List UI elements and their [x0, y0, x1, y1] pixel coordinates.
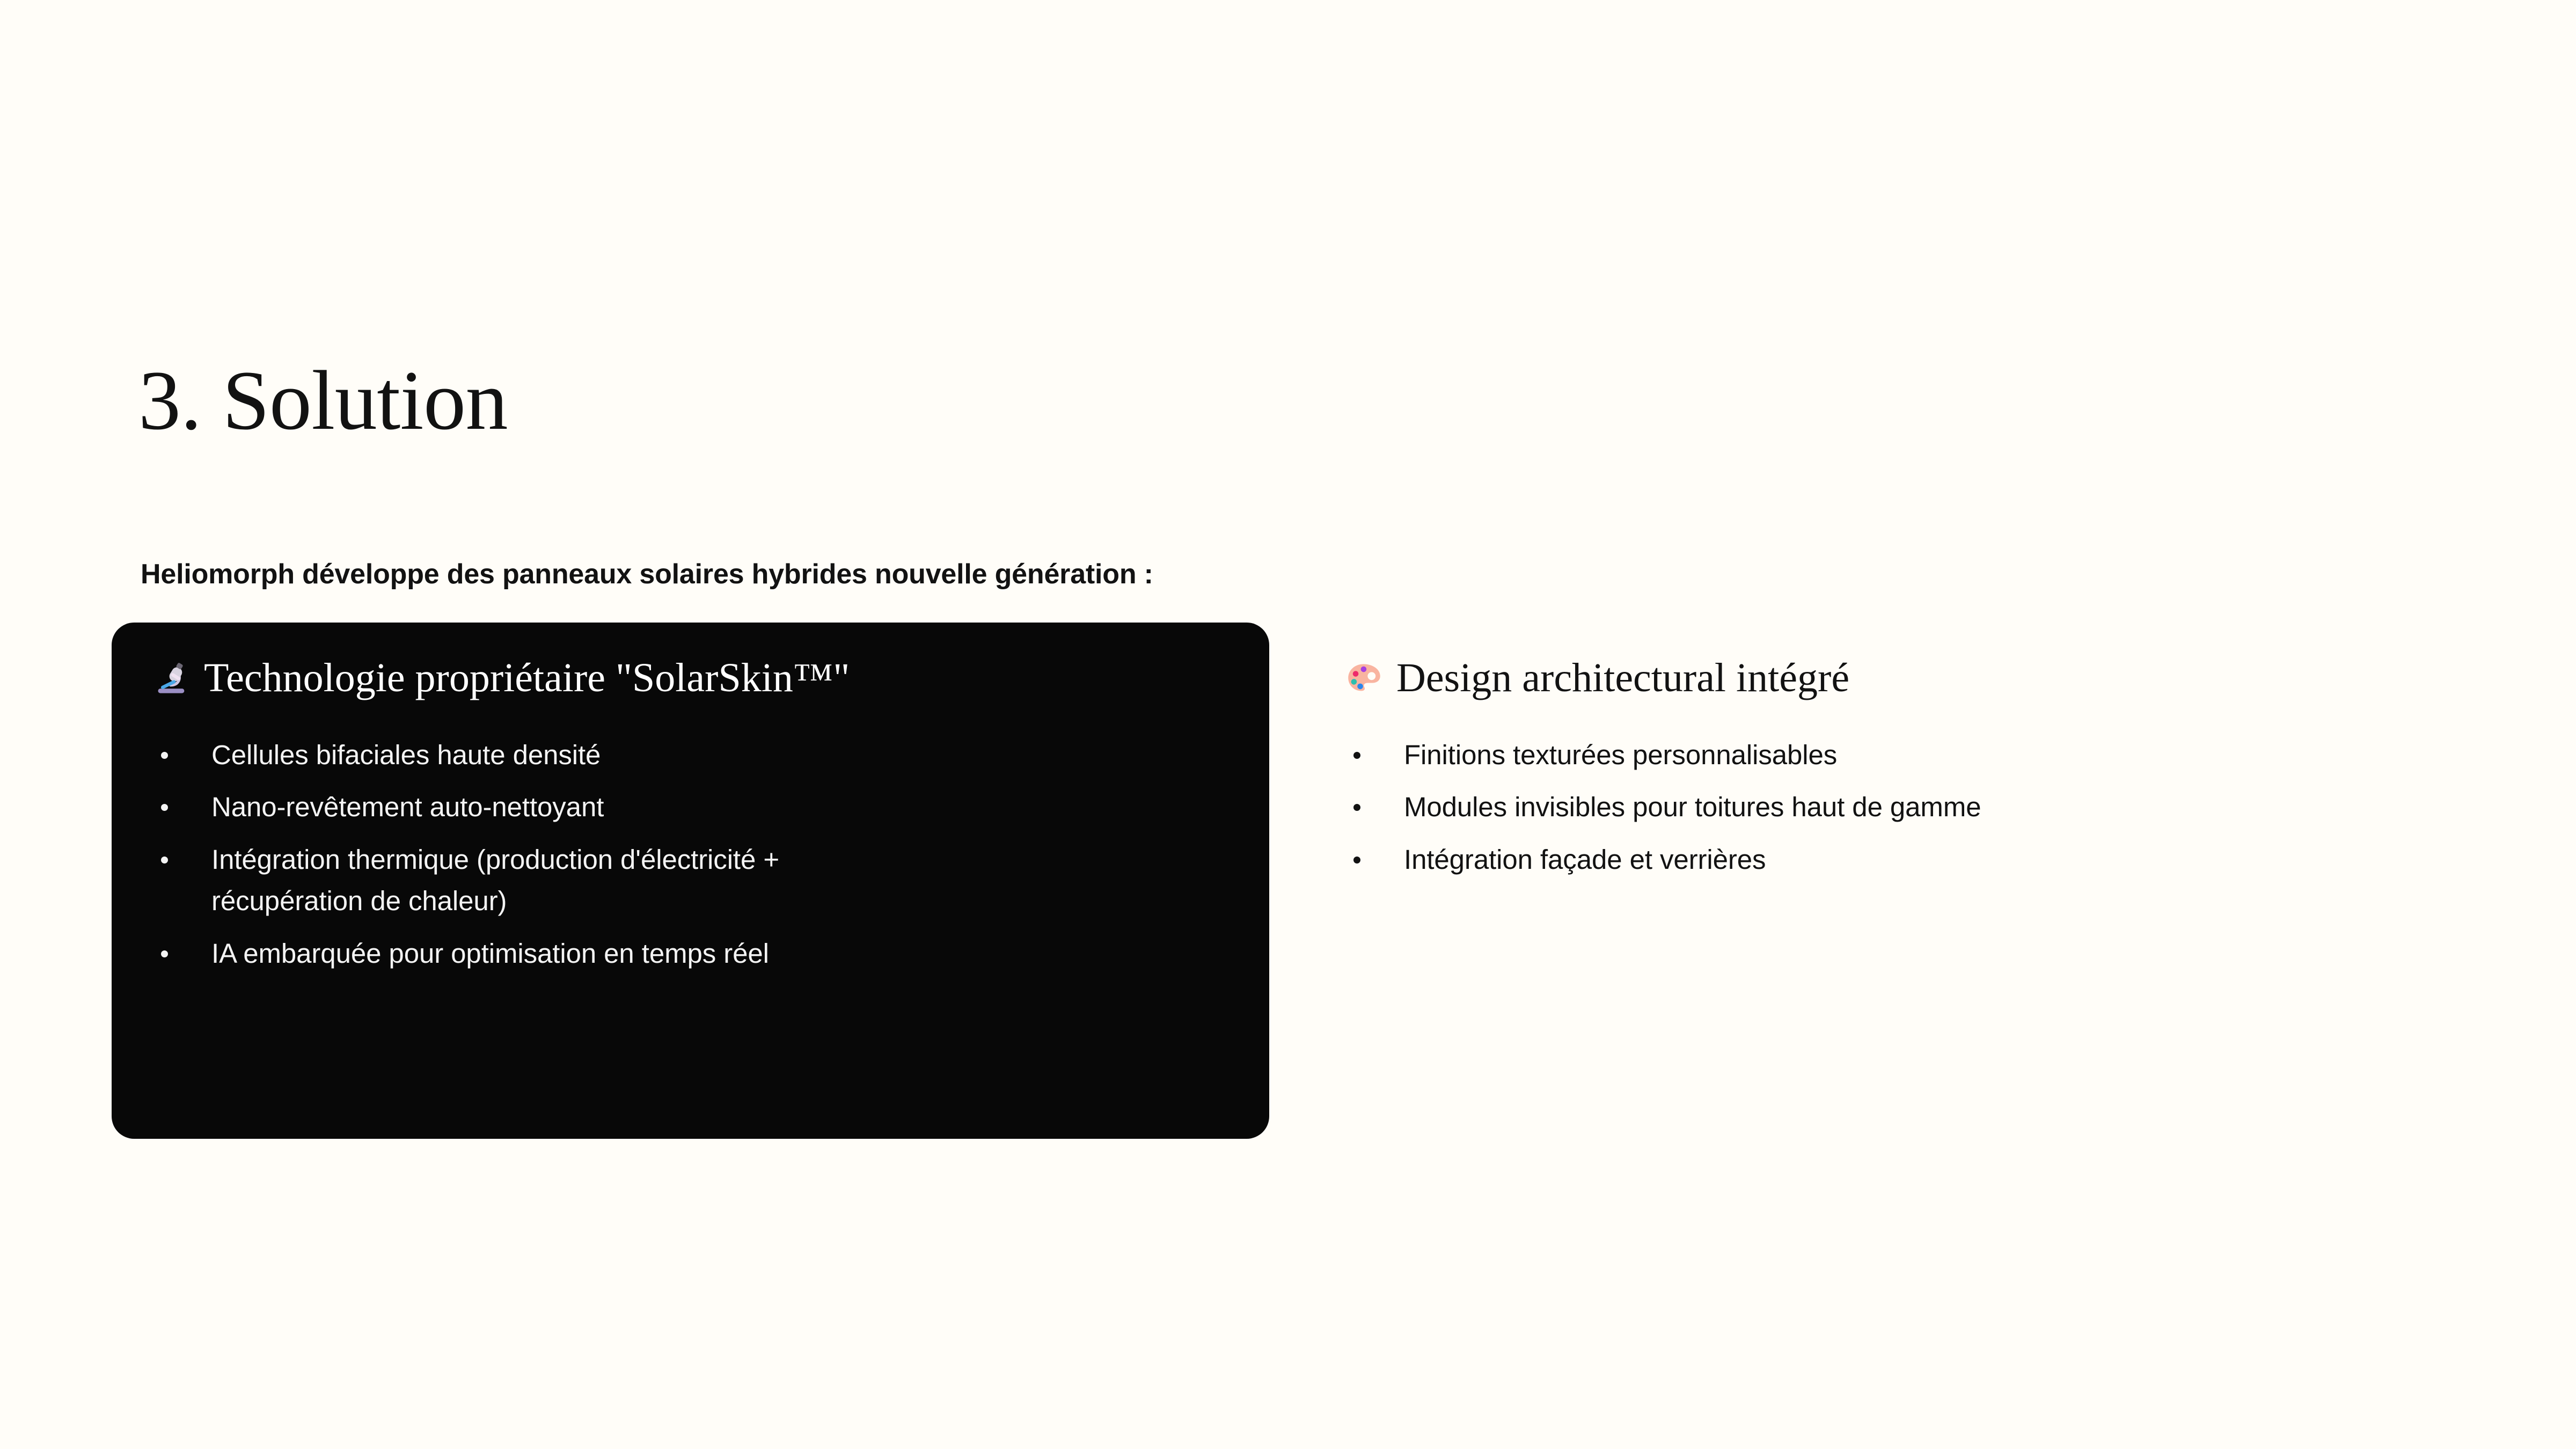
list-item: Finitions texturées personnalisables — [1346, 734, 2441, 776]
palette-icon — [1346, 660, 1382, 697]
card-solarskin-heading-text: Technologie propriétaire "SolarSkin™" — [204, 656, 850, 701]
list-item: Intégration thermique (production d'élec… — [153, 839, 882, 922]
list-item: IA embarquée pour optimisation en temps … — [153, 933, 1232, 975]
list-item: Intégration façade et verrières — [1346, 839, 2441, 881]
page-title: 3. Solution — [138, 358, 508, 443]
card-solarskin: Technologie propriétaire "SolarSkin™" Ce… — [112, 623, 1269, 1139]
card-design: Design architectural intégré Finitions t… — [1335, 623, 2462, 912]
slide-canvas: 3. Solution Heliomorph développe des pan… — [0, 0, 2576, 1449]
card-design-heading: Design architectural intégré — [1346, 656, 2441, 701]
microscope-icon — [153, 660, 190, 697]
list-item: Nano-revêtement auto-nettoyant — [153, 786, 1232, 828]
card-solarskin-heading: Technologie propriétaire "SolarSkin™" — [153, 656, 1232, 701]
content-columns: Technologie propriétaire "SolarSkin™" Ce… — [0, 623, 2576, 1159]
card-solarskin-bullets: Cellules bifaciales haute densité Nano-r… — [153, 734, 1232, 975]
list-item: Cellules bifaciales haute densité — [153, 734, 1232, 776]
slide-subtitle: Heliomorph développe des panneaux solair… — [141, 557, 1153, 593]
card-design-heading-text: Design architectural intégré — [1396, 656, 1849, 701]
list-item: Modules invisibles pour toitures haut de… — [1346, 786, 2441, 828]
card-design-bullets: Finitions texturées personnalisables Mod… — [1346, 734, 2441, 881]
